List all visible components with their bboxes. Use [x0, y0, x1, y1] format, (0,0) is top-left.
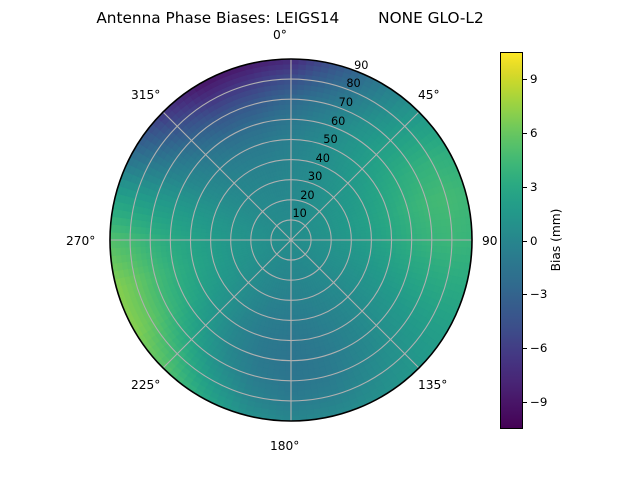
colorbar-axis-label: Bias (mm): [549, 209, 563, 272]
colorbar-tick-mark: [523, 348, 527, 349]
radial-tick-label: 30: [308, 171, 322, 183]
angle-tick-135: 135°: [418, 379, 447, 392]
radial-tick-label: 40: [316, 153, 330, 165]
polar-grid-layer: [110, 59, 472, 421]
radial-tick-label: 70: [339, 97, 353, 109]
angle-tick-90: 90: [482, 235, 498, 248]
page-title: Antenna Phase Biases: LEIGS14 NONE GLO-L…: [0, 9, 580, 27]
colorbar-tick-label: 9: [530, 73, 538, 85]
colorbar-gradient: [500, 52, 523, 429]
colorbar-tick-mark: [523, 241, 527, 242]
angle-tick-0: 0°: [273, 29, 287, 42]
colorbar-tick-mark: [523, 133, 527, 134]
radial-tick-label: 20: [300, 190, 314, 202]
radial-tick-label: 10: [293, 208, 307, 220]
angle-tick-270: 270°: [66, 235, 95, 248]
polar-heatmap-svg: [109, 58, 473, 422]
colorbar-tick-mark: [523, 187, 527, 188]
angle-tick-45: 45°: [418, 89, 440, 102]
colorbar-tick-label: 6: [530, 127, 538, 139]
colorbar-tick-label: 0: [530, 235, 538, 247]
radial-tick-label: 80: [346, 78, 360, 90]
colorbar-tick-label: 3: [530, 181, 538, 193]
colorbar[interactable]: 9630−3−6−9: [500, 52, 523, 429]
radial-tick-label: 90: [354, 60, 368, 72]
colorbar-tick-mark: [523, 402, 527, 403]
colorbar-tick-label: −9: [530, 396, 547, 408]
figure-canvas: Antenna Phase Biases: LEIGS14 NONE GLO-L…: [0, 0, 640, 480]
colorbar-tick-label: −6: [530, 342, 547, 354]
angle-tick-225: 225°: [131, 379, 160, 392]
radial-tick-label: 60: [331, 116, 345, 128]
colorbar-tick-mark: [523, 79, 527, 80]
colorbar-tick-label: −3: [530, 288, 547, 300]
angle-tick-180: 180°: [270, 440, 299, 453]
angle-tick-315: 315°: [131, 89, 160, 102]
colorbar-tick-mark: [523, 294, 527, 295]
radial-tick-label: 50: [323, 134, 337, 146]
polar-plot-axes[interactable]: 102030405060708090: [109, 58, 473, 422]
